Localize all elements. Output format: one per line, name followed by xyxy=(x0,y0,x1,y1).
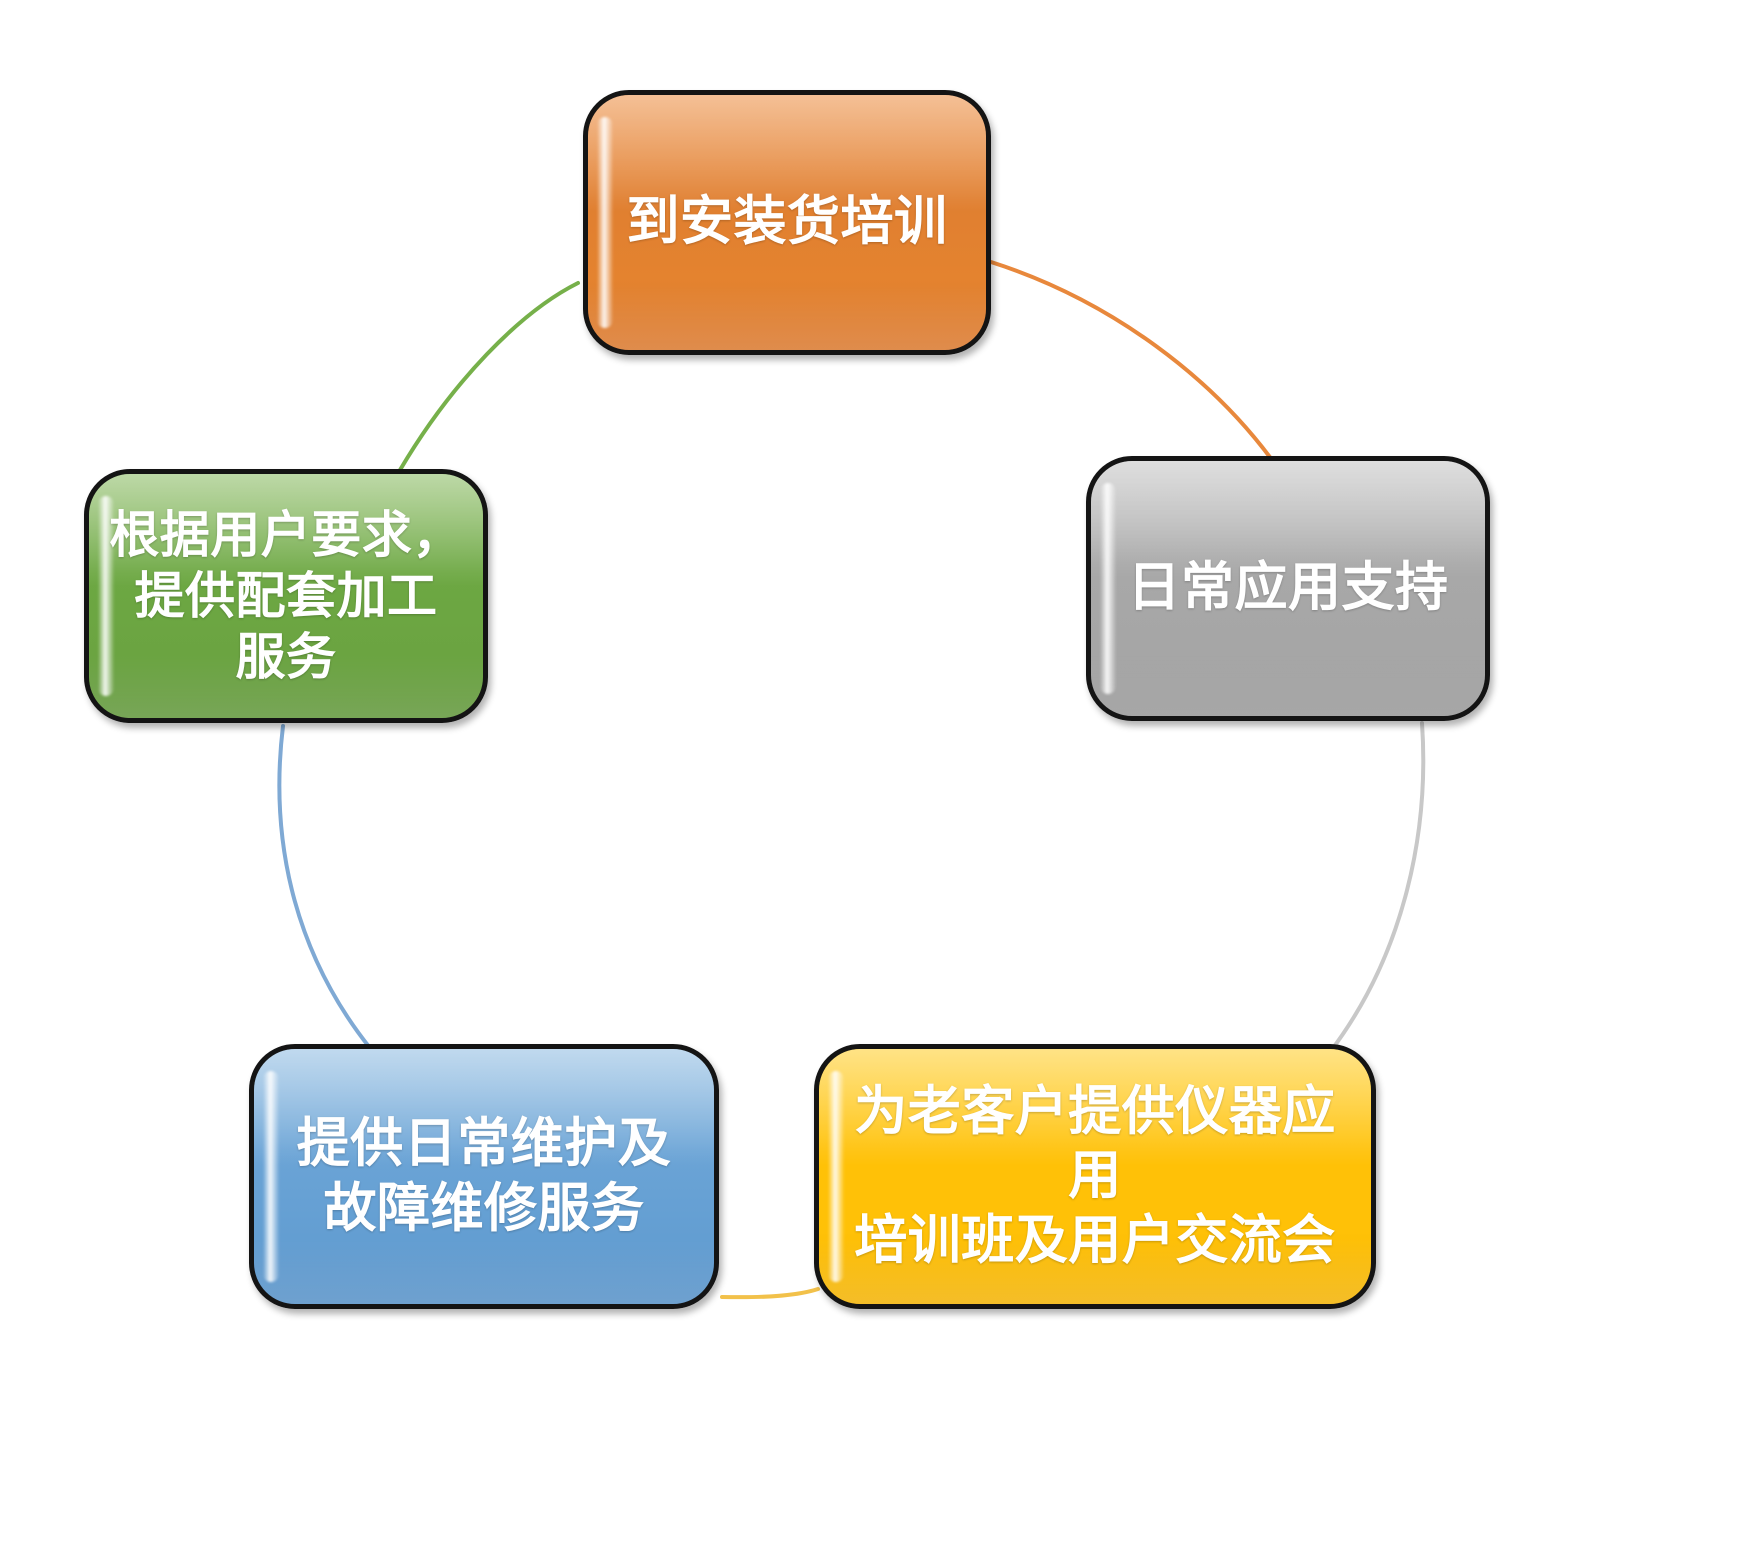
cycle-node-green[interactable]: 根据用户要求， 提供配套加工 服务 xyxy=(84,469,488,723)
cycle-node-blue-label: 提供日常维护及 故障维修服务 xyxy=(281,1112,688,1241)
cycle-node-yellow[interactable]: 为老客户提供仪器应用 培训班及用户交流会 xyxy=(814,1044,1376,1309)
cycle-node-blue[interactable]: 提供日常维护及 故障维修服务 xyxy=(249,1044,719,1309)
cycle-node-yellow-label: 为老客户提供仪器应用 培训班及用户交流会 xyxy=(819,1080,1371,1274)
connector-blue-to-green xyxy=(279,726,370,1048)
connector-orange-to-gray xyxy=(991,262,1280,471)
diagram-canvas: 到安装货培训 日常应用支持 为老客户提供仪器应用 培训班及用户交流会 提供日常维… xyxy=(0,0,1762,1566)
connector-yellow-to-blue xyxy=(722,1289,818,1297)
gloss-highlight-bottom xyxy=(1091,650,1485,716)
gloss-highlight-left xyxy=(263,1071,279,1282)
connector-gray-to-yellow xyxy=(1330,723,1423,1052)
gloss-highlight-bottom xyxy=(254,1238,714,1304)
connector-green-to-orange xyxy=(400,283,578,470)
cycle-node-green-label: 根据用户要求， 提供配套加工 服务 xyxy=(93,505,479,688)
cycle-node-gray-label: 日常应用支持 xyxy=(1112,556,1465,621)
cycle-node-orange[interactable]: 到安装货培训 xyxy=(583,90,991,355)
cycle-node-gray[interactable]: 日常应用支持 xyxy=(1086,456,1490,721)
gloss-highlight-bottom xyxy=(588,284,986,350)
cycle-node-orange-label: 到安装货培训 xyxy=(611,190,964,255)
